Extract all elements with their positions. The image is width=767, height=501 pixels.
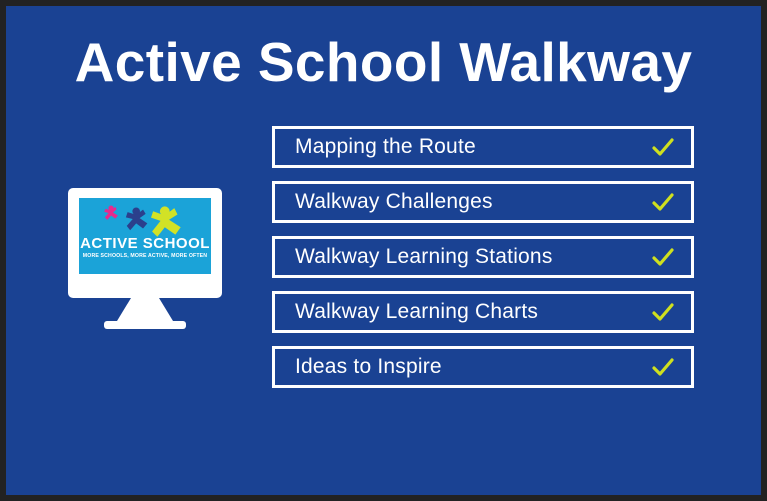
menu-item-label: Mapping the Route xyxy=(275,135,476,159)
check-icon xyxy=(651,190,675,214)
active-school-logo: ACTIVE SCHOOL MORE SCHOOLS, MORE ACTIVE,… xyxy=(79,198,211,274)
menu-list: Mapping the Route Walkway Challenges Wal… xyxy=(272,126,694,388)
check-icon xyxy=(651,355,675,379)
monitor-screen: ACTIVE SCHOOL MORE SCHOOLS, MORE ACTIVE,… xyxy=(79,198,211,274)
logo-tagline: MORE SCHOOLS, MORE ACTIVE, MORE OFTEN xyxy=(79,253,211,259)
menu-item-label: Walkway Learning Stations xyxy=(275,245,553,269)
logo-wordmark: ACTIVE SCHOOL xyxy=(79,236,211,251)
monitor-stand-base xyxy=(104,321,186,329)
menu-item-ideas-to-inspire[interactable]: Ideas to Inspire xyxy=(272,346,694,388)
slide-root: Active School Walkway xyxy=(0,0,767,501)
check-icon xyxy=(651,135,675,159)
menu-item-label: Walkway Learning Charts xyxy=(275,300,538,324)
menu-item-label: Walkway Challenges xyxy=(275,190,493,214)
monitor-stand-neck xyxy=(117,298,173,321)
menu-item-walkway-learning-charts[interactable]: Walkway Learning Charts xyxy=(272,291,694,333)
monitor-illustration: ACTIVE SCHOOL MORE SCHOOLS, MORE ACTIVE,… xyxy=(68,188,228,336)
monitor-frame: ACTIVE SCHOOL MORE SCHOOLS, MORE ACTIVE,… xyxy=(68,188,222,298)
logo-star-figures-icon xyxy=(101,204,191,238)
menu-item-mapping-the-route[interactable]: Mapping the Route xyxy=(272,126,694,168)
menu-item-walkway-learning-stations[interactable]: Walkway Learning Stations xyxy=(272,236,694,278)
menu-item-label: Ideas to Inspire xyxy=(275,355,442,379)
page-title: Active School Walkway xyxy=(6,32,761,93)
check-icon xyxy=(651,245,675,269)
check-icon xyxy=(651,300,675,324)
menu-item-walkway-challenges[interactable]: Walkway Challenges xyxy=(272,181,694,223)
